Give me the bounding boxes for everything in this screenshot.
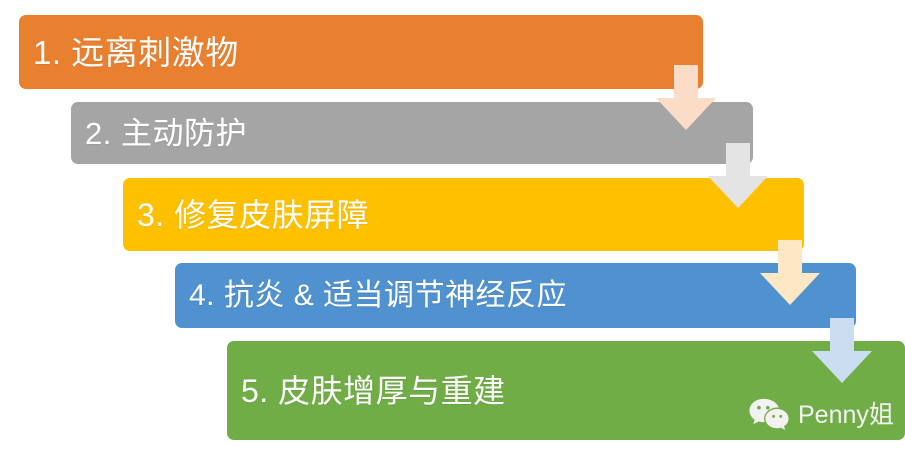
watermark-label: Penny姐 <box>798 403 894 428</box>
process-step-3: 3. 修复皮肤屏障 <box>123 178 804 251</box>
wechat-watermark: Penny姐 <box>748 398 894 432</box>
arrow-down-icon <box>812 318 872 383</box>
process-step-1-label: 1. 远离刺激物 <box>33 36 239 69</box>
arrow-down-icon <box>760 240 820 305</box>
process-diagram-canvas: 1. 远离刺激物 2. 主动防护 3. 修复皮肤屏障 4. 抗炎 & 适当调节神… <box>0 0 905 470</box>
process-step-3-label: 3. 修复皮肤屏障 <box>137 199 369 231</box>
process-step-2-label: 2. 主动防护 <box>85 118 247 149</box>
arrow-down-icon <box>656 65 716 130</box>
process-step-2: 2. 主动防护 <box>71 102 753 164</box>
wechat-icon <box>748 398 790 432</box>
process-step-5-label: 5. 皮肤增厚与重建 <box>241 375 506 407</box>
process-step-4-label: 4. 抗炎 & 适当调节神经反应 <box>189 281 567 311</box>
arrow-down-icon <box>708 143 768 208</box>
process-step-4: 4. 抗炎 & 适当调节神经反应 <box>175 263 856 328</box>
process-step-1: 1. 远离刺激物 <box>19 15 703 89</box>
